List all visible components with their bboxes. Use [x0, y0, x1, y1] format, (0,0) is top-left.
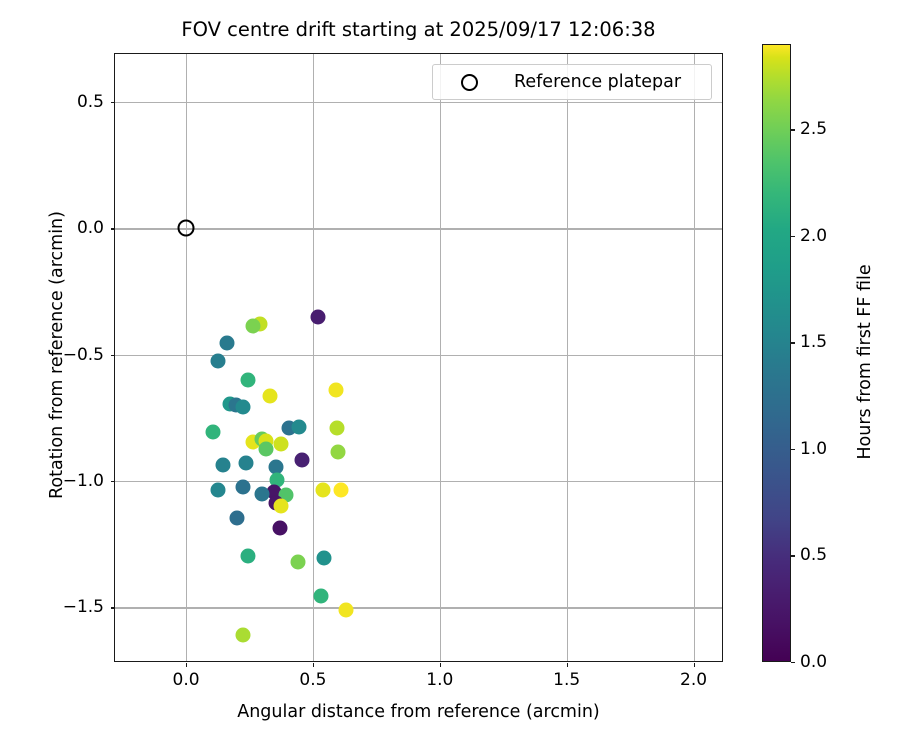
legend-label: Reference platepar — [514, 72, 681, 92]
x-tick-label: 1.0 — [426, 670, 453, 690]
x-tick-label: 1.5 — [553, 670, 580, 690]
colorbar-gradient — [762, 44, 791, 662]
x-tick-label: 2.0 — [680, 670, 707, 690]
colorbar-tick-label: 0.0 — [800, 652, 827, 672]
gridline-vertical — [313, 54, 314, 661]
gridline-horizontal — [115, 355, 722, 356]
colorbar-tick — [791, 342, 795, 343]
colorbar-tick-label: 2.5 — [800, 119, 827, 139]
x-tick-label: 0.5 — [299, 670, 326, 690]
y-tick-label: −0.5 — [63, 345, 104, 365]
data-point — [274, 499, 289, 514]
data-point — [331, 444, 346, 459]
gridline-vertical — [440, 54, 441, 661]
y-axis-label: Rotation from reference (arcmin) — [47, 45, 67, 665]
colorbar-tick — [791, 555, 795, 556]
data-point — [236, 399, 251, 414]
gridline-horizontal — [115, 102, 722, 103]
data-point — [246, 318, 261, 333]
chart-title: FOV centre drift starting at 2025/09/17 … — [114, 18, 723, 41]
plot-area — [115, 54, 722, 661]
data-point — [210, 354, 225, 369]
colorbar-label: Hours from first FF file — [855, 52, 875, 672]
y-tick-label: −1.0 — [63, 471, 104, 491]
colorbar-tick-label: 0.5 — [800, 545, 827, 565]
colorbar-tick — [791, 662, 795, 663]
data-point — [274, 437, 289, 452]
data-point — [241, 372, 256, 387]
gridline-vertical — [567, 54, 568, 661]
gridline-horizontal — [115, 607, 722, 608]
data-point — [258, 442, 273, 457]
y-tick — [111, 481, 115, 482]
y-tick — [111, 228, 115, 229]
y-tick-label: 0.0 — [77, 218, 104, 238]
plot-axes: Reference platepar 0.00.51.01.52.00.50.0… — [114, 53, 723, 662]
x-axis-label: Angular distance from reference (arcmin) — [114, 702, 723, 722]
x-tick — [186, 663, 187, 667]
y-tick-label: 0.5 — [77, 92, 104, 112]
colorbar-tick-label: 1.0 — [800, 439, 827, 459]
chart-legend: Reference platepar — [432, 64, 712, 100]
y-tick-label: −1.5 — [63, 597, 104, 617]
y-tick — [111, 607, 115, 608]
reference-platepar-point — [178, 220, 195, 237]
reference-platepar-marker-icon — [461, 74, 478, 91]
data-point — [236, 628, 251, 643]
gridline-horizontal — [115, 481, 722, 482]
gridline-vertical — [694, 54, 695, 661]
data-point — [205, 424, 220, 439]
data-point — [338, 602, 353, 617]
colorbar-tick — [791, 449, 795, 450]
data-point — [317, 551, 332, 566]
data-point — [238, 456, 253, 471]
y-tick — [111, 355, 115, 356]
data-point — [210, 482, 225, 497]
data-point — [255, 486, 270, 501]
data-point — [241, 548, 256, 563]
data-point — [316, 482, 331, 497]
data-point — [290, 554, 305, 569]
colorbar-tick-label: 2.0 — [800, 226, 827, 246]
colorbar: 0.00.51.01.52.02.5 — [762, 44, 791, 662]
data-point — [330, 420, 345, 435]
chart-figure: FOV centre drift starting at 2025/09/17 … — [0, 0, 900, 750]
x-tick — [313, 663, 314, 667]
data-point — [291, 419, 306, 434]
gridline-vertical — [186, 54, 187, 661]
data-point — [294, 452, 309, 467]
data-point — [215, 457, 230, 472]
data-point — [229, 510, 244, 525]
data-point — [333, 482, 348, 497]
gridline-horizontal — [115, 228, 722, 229]
x-tick — [694, 663, 695, 667]
data-point — [272, 520, 287, 535]
data-point — [313, 589, 328, 604]
colorbar-tick-label: 1.5 — [800, 332, 827, 352]
x-tick — [567, 663, 568, 667]
data-point — [219, 336, 234, 351]
x-tick-label: 0.0 — [173, 670, 200, 690]
colorbar-tick — [791, 129, 795, 130]
data-point — [262, 389, 277, 404]
y-tick — [111, 102, 115, 103]
data-point — [236, 480, 251, 495]
data-point — [311, 309, 326, 324]
colorbar-tick — [791, 236, 795, 237]
data-point — [328, 383, 343, 398]
x-tick — [440, 663, 441, 667]
